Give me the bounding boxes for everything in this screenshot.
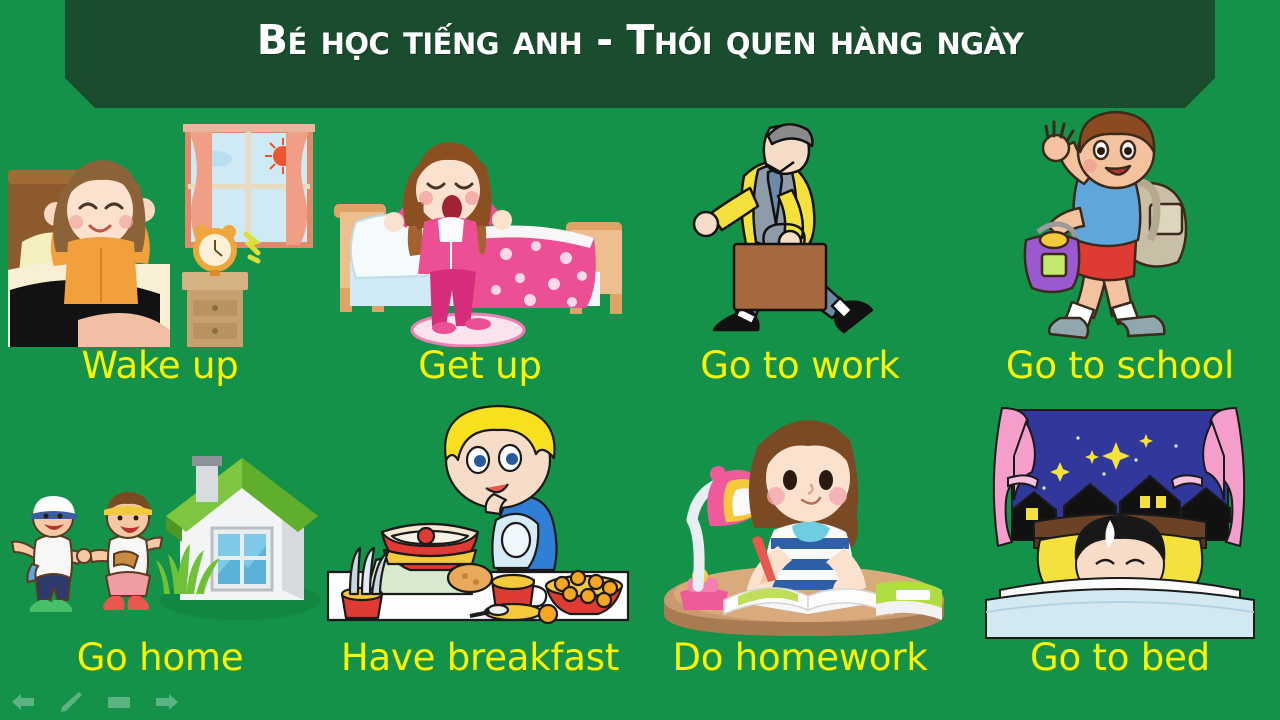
bottom-toolbar — [0, 684, 1280, 720]
illustration-wake-up — [0, 108, 320, 347]
card-go-to-work[interactable]: Go to work — [640, 108, 960, 398]
illustration-go-to-work — [640, 108, 960, 347]
card-label-wake-up: Wake up — [81, 347, 238, 398]
illustration-go-home — [0, 398, 320, 639]
card-row-2: Go home — [0, 398, 1280, 693]
illustration-get-up — [320, 108, 640, 347]
illustration-have-breakfast — [320, 398, 640, 639]
left-arrow-icon[interactable] — [10, 691, 36, 713]
card-row-1: Wake up — [0, 108, 1280, 398]
card-wake-up[interactable]: Wake up — [0, 108, 320, 398]
card-go-to-school[interactable]: Go to school — [960, 108, 1280, 398]
page-title: Bé học tiếng anh - Thói quen hàng ngày — [257, 16, 1023, 64]
pen-icon[interactable] — [58, 691, 84, 713]
card-do-homework[interactable]: Do homework — [640, 398, 960, 693]
card-label-get-up: Get up — [418, 347, 541, 398]
right-arrow-icon[interactable] — [154, 691, 180, 713]
card-label-go-to-work: Go to work — [700, 347, 900, 398]
illustration-do-homework — [640, 398, 960, 639]
card-get-up[interactable]: Get up — [320, 108, 640, 398]
card-label-go-to-school: Go to school — [1006, 347, 1234, 398]
card-have-breakfast[interactable]: Have breakfast — [320, 398, 640, 693]
slide-icon[interactable] — [106, 691, 132, 713]
card-go-home[interactable]: Go home — [0, 398, 320, 693]
illustration-go-to-bed — [960, 398, 1280, 639]
header-banner: Bé học tiếng anh - Thói quen hàng ngày — [65, 0, 1215, 108]
card-go-to-bed[interactable]: Go to bed — [960, 398, 1280, 693]
illustration-go-to-school — [960, 108, 1280, 347]
